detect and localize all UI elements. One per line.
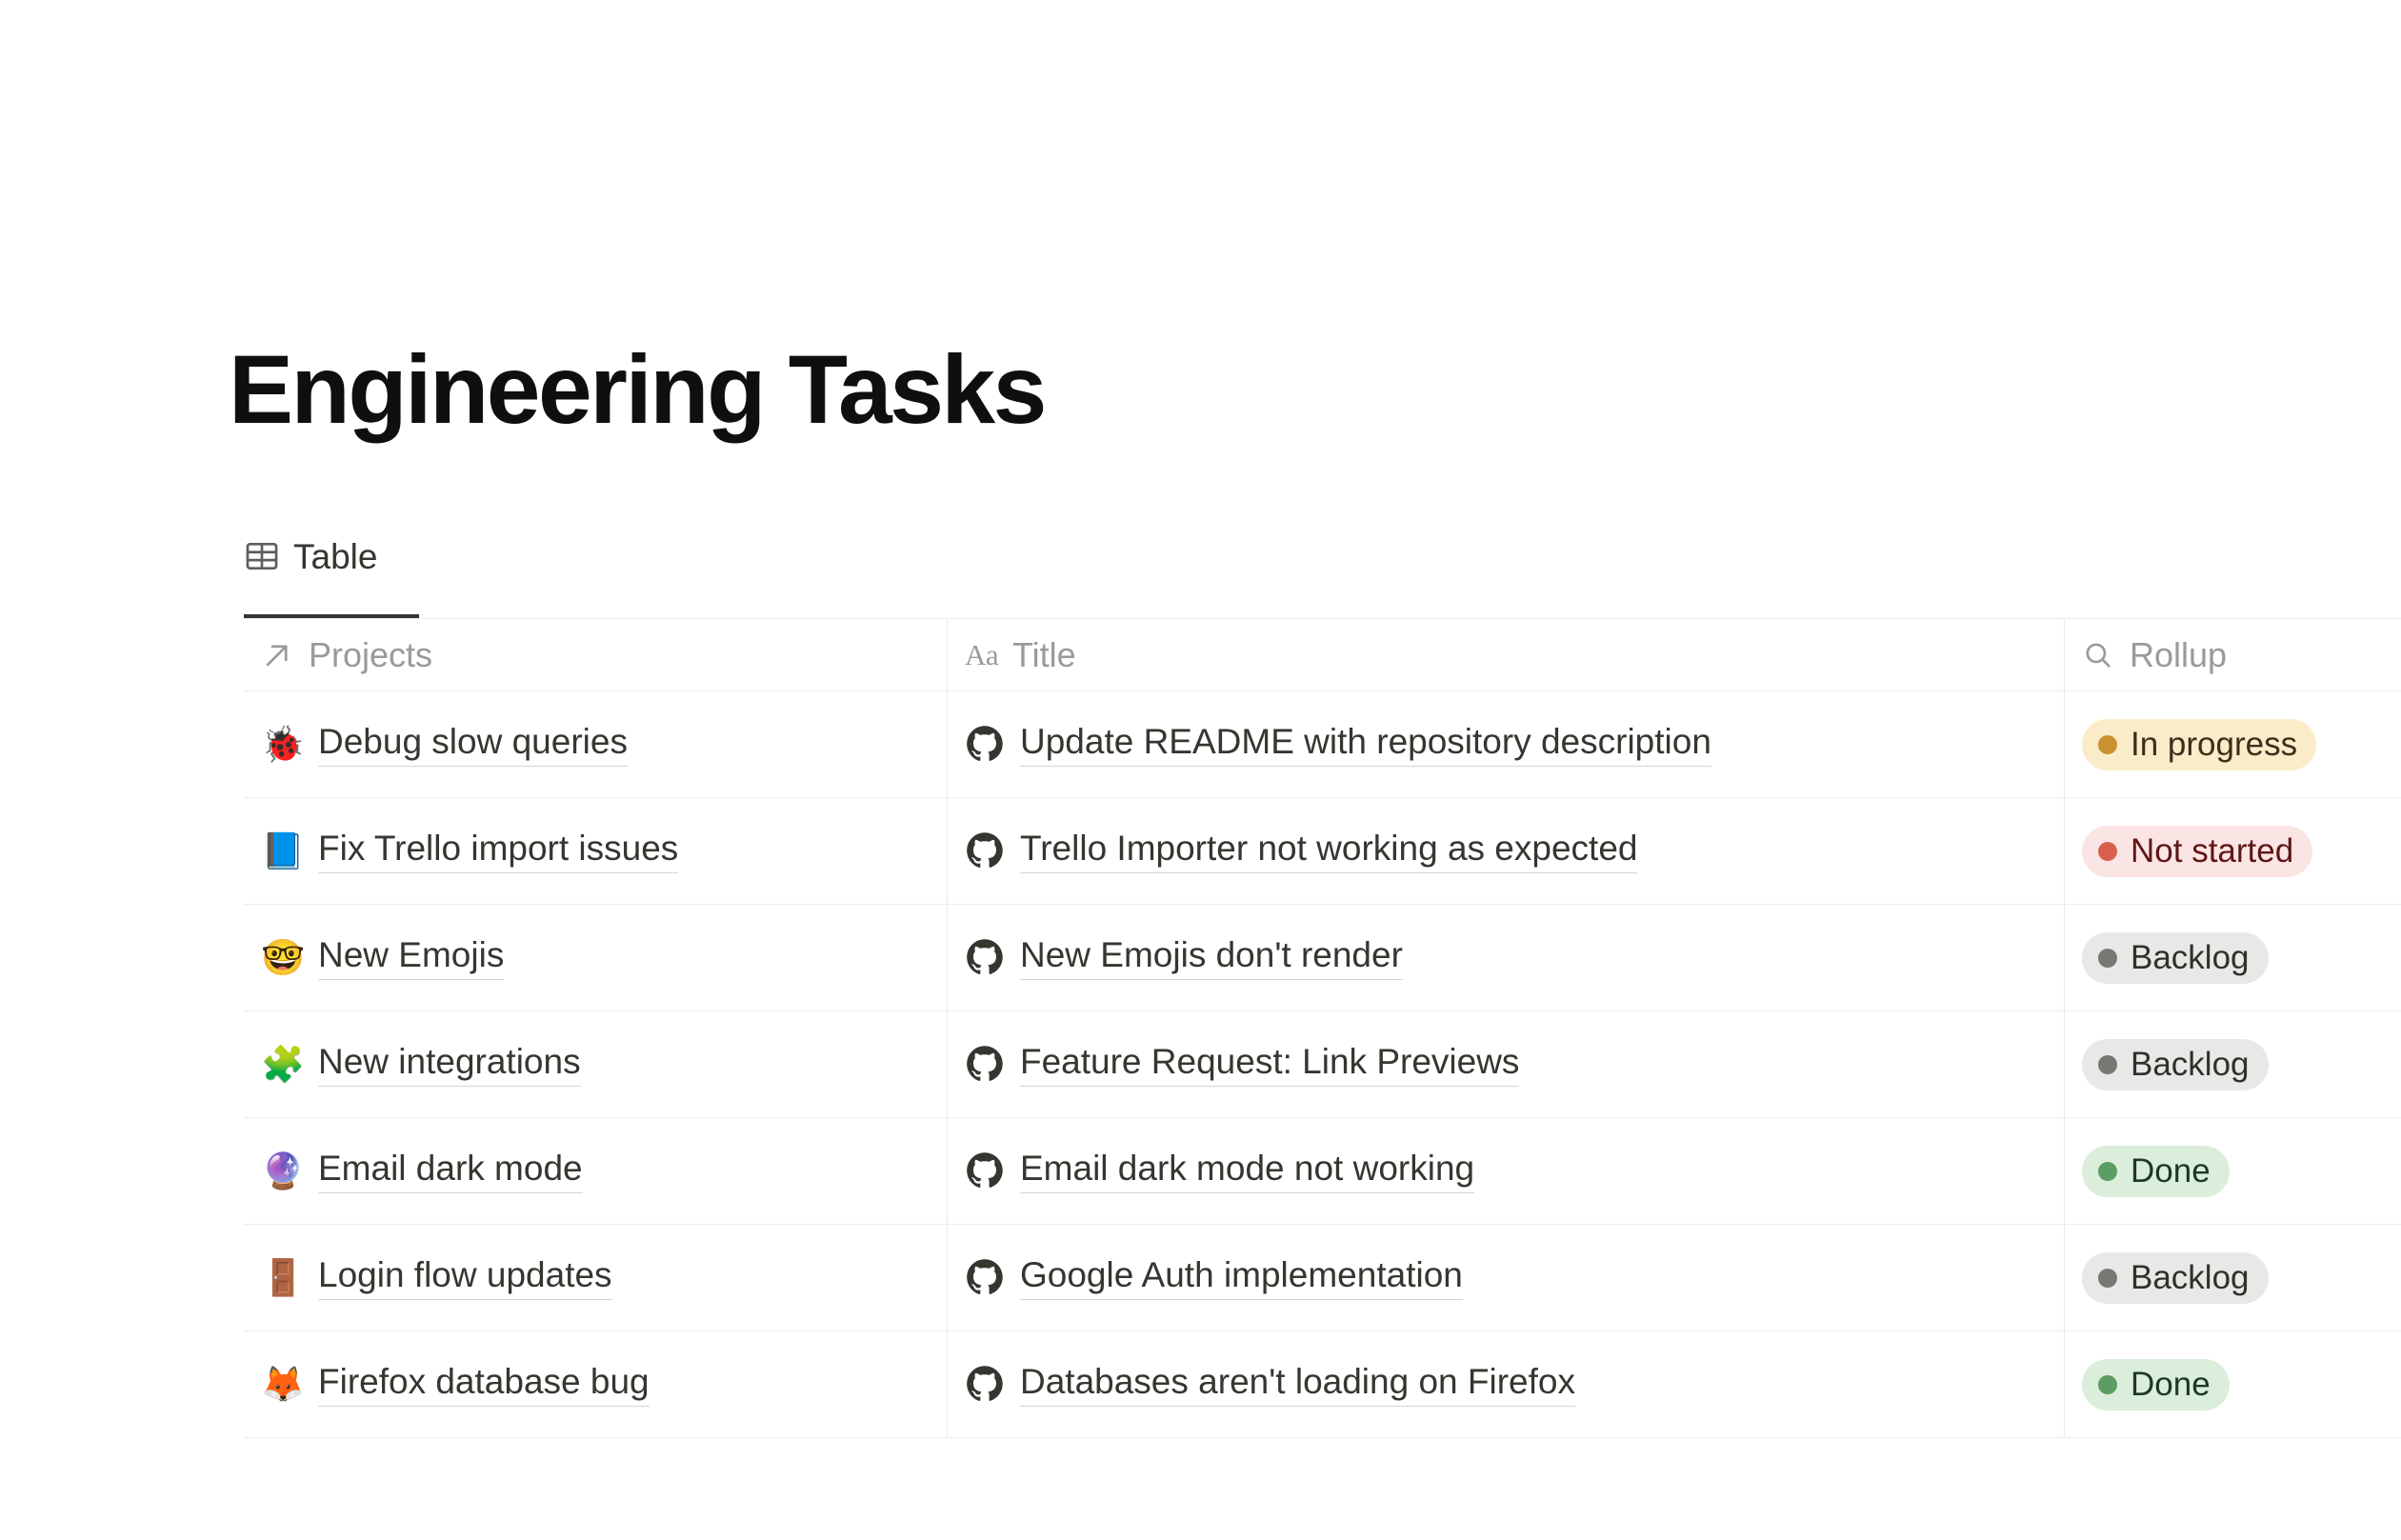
door-emoji: 🚪 bbox=[261, 1260, 303, 1295]
table-row[interactable]: 🚪Login flow updatesGoogle Auth implement… bbox=[244, 1225, 2401, 1331]
cell-rollup[interactable]: Backlog bbox=[2065, 1225, 2401, 1330]
cell-title[interactable]: Feature Request: Link Previews bbox=[948, 1011, 2065, 1117]
status-dot-icon bbox=[2098, 949, 2117, 968]
status-badge: Done bbox=[2082, 1359, 2230, 1410]
cell-rollup[interactable]: Done bbox=[2065, 1331, 2401, 1437]
issue-title-link[interactable]: Email dark mode not working bbox=[1020, 1149, 1474, 1193]
project-relation-link[interactable]: Debug slow queries bbox=[318, 722, 628, 767]
table-row[interactable]: 🦊Firefox database bugDatabases aren't lo… bbox=[244, 1331, 2401, 1438]
cell-title[interactable]: Trello Importer not working as expected bbox=[948, 798, 2065, 904]
project-relation-link[interactable]: Firefox database bug bbox=[318, 1362, 650, 1407]
github-icon bbox=[965, 937, 1005, 977]
github-icon bbox=[965, 1044, 1005, 1084]
status-badge-label: Backlog bbox=[2131, 1048, 2250, 1081]
github-icon bbox=[965, 1364, 1005, 1404]
cell-projects[interactable]: 🚪Login flow updates bbox=[244, 1225, 948, 1330]
table-body: 🐞Debug slow queriesUpdate README with re… bbox=[244, 691, 2401, 1438]
github-icon bbox=[965, 1150, 1005, 1190]
status-badge: Backlog bbox=[2082, 932, 2269, 984]
cell-rollup[interactable]: Not started bbox=[2065, 798, 2401, 904]
status-badge: Backlog bbox=[2082, 1252, 2269, 1304]
column-header-title[interactable]: Aa Title bbox=[948, 619, 2065, 690]
blue-book-emoji: 📘 bbox=[261, 833, 303, 869]
issue-title-link[interactable]: Google Auth implementation bbox=[1020, 1255, 1463, 1300]
issue-title-link[interactable]: Trello Importer not working as expected bbox=[1020, 829, 1637, 873]
cell-projects[interactable]: 📘Fix Trello import issues bbox=[244, 798, 948, 904]
status-badge-label: Done bbox=[2131, 1154, 2211, 1188]
table-row[interactable]: 🔮Email dark modeEmail dark mode not work… bbox=[244, 1118, 2401, 1225]
cell-title[interactable]: Databases aren't loading on Firefox bbox=[948, 1331, 2065, 1437]
status-dot-icon bbox=[2098, 1055, 2117, 1074]
status-badge-label: In progress bbox=[2131, 728, 2297, 761]
status-dot-icon bbox=[2098, 1269, 2117, 1288]
issue-title-link[interactable]: Feature Request: Link Previews bbox=[1020, 1042, 1519, 1087]
column-header-rollup-label: Rollup bbox=[2130, 638, 2227, 672]
status-dot-icon bbox=[2098, 1162, 2117, 1181]
puzzle-piece-emoji: 🧩 bbox=[261, 1047, 303, 1082]
view-tab-bar: Table bbox=[244, 526, 387, 600]
table-row[interactable]: 🧩New integrationsFeature Request: Link P… bbox=[244, 1011, 2401, 1118]
column-header-rollup[interactable]: Rollup bbox=[2065, 619, 2401, 690]
status-badge-label: Backlog bbox=[2131, 941, 2250, 974]
cell-projects[interactable]: 🦊Firefox database bug bbox=[244, 1331, 948, 1437]
lady-beetle-emoji: 🐞 bbox=[261, 727, 303, 762]
nerd-face-emoji: 🤓 bbox=[261, 940, 303, 975]
column-header-title-label: Title bbox=[1012, 638, 1076, 672]
relation-arrow-icon bbox=[261, 639, 293, 671]
table-header-row: Projects Aa Title Rollup bbox=[244, 619, 2401, 691]
magnifier-icon bbox=[2082, 639, 2114, 671]
tab-table[interactable]: Table bbox=[244, 526, 387, 587]
column-header-projects[interactable]: Projects bbox=[244, 619, 948, 690]
table-row[interactable]: 📘Fix Trello import issuesTrello Importer… bbox=[244, 798, 2401, 905]
status-badge-label: Done bbox=[2131, 1368, 2211, 1401]
github-icon bbox=[965, 1257, 1005, 1297]
project-relation-link[interactable]: New integrations bbox=[318, 1042, 581, 1087]
issue-title-link[interactable]: Update README with repository descriptio… bbox=[1020, 722, 1711, 767]
cell-projects[interactable]: 🐞Debug slow queries bbox=[244, 691, 948, 797]
cell-rollup[interactable]: In progress bbox=[2065, 691, 2401, 797]
cell-title[interactable]: Email dark mode not working bbox=[948, 1118, 2065, 1224]
column-header-projects-label: Projects bbox=[309, 638, 432, 672]
status-dot-icon bbox=[2098, 842, 2117, 861]
notion-page: Engineering Tasks Table bbox=[0, 0, 2401, 1540]
status-badge: Backlog bbox=[2082, 1039, 2269, 1090]
status-badge: Not started bbox=[2082, 826, 2312, 877]
cell-title[interactable]: New Emojis don't render bbox=[948, 905, 2065, 1010]
issue-title-link[interactable]: Databases aren't loading on Firefox bbox=[1020, 1362, 1575, 1407]
status-badge: Done bbox=[2082, 1146, 2230, 1197]
cell-rollup[interactable]: Backlog bbox=[2065, 1011, 2401, 1117]
cell-projects[interactable]: 🤓New Emojis bbox=[244, 905, 948, 1010]
github-icon bbox=[965, 830, 1005, 870]
page-title: Engineering Tasks bbox=[229, 336, 1045, 443]
status-dot-icon bbox=[2098, 735, 2117, 754]
status-badge-label: Backlog bbox=[2131, 1261, 2250, 1294]
project-relation-link[interactable]: New Emojis bbox=[318, 935, 504, 980]
database-table: Projects Aa Title Rollup bbox=[244, 618, 2401, 1438]
cell-rollup[interactable]: Backlog bbox=[2065, 905, 2401, 1010]
github-icon bbox=[965, 724, 1005, 764]
project-relation-link[interactable]: Email dark mode bbox=[318, 1149, 583, 1193]
fox-emoji: 🦊 bbox=[261, 1367, 303, 1402]
project-relation-link[interactable]: Fix Trello import issues bbox=[318, 829, 678, 873]
cell-projects[interactable]: 🔮Email dark mode bbox=[244, 1118, 948, 1224]
tab-table-label: Table bbox=[293, 539, 377, 574]
table-row[interactable]: 🤓New EmojisNew Emojis don't renderBacklo… bbox=[244, 905, 2401, 1011]
aa-text-icon: Aa bbox=[965, 639, 997, 671]
table-row[interactable]: 🐞Debug slow queriesUpdate README with re… bbox=[244, 691, 2401, 798]
status-dot-icon bbox=[2098, 1375, 2117, 1394]
project-relation-link[interactable]: Login flow updates bbox=[318, 1255, 612, 1300]
issue-title-link[interactable]: New Emojis don't render bbox=[1020, 935, 1403, 980]
status-badge: In progress bbox=[2082, 719, 2316, 770]
crystal-ball-emoji: 🔮 bbox=[261, 1153, 303, 1189]
cell-title[interactable]: Google Auth implementation bbox=[948, 1225, 2065, 1330]
status-badge-label: Not started bbox=[2131, 834, 2293, 868]
table-icon bbox=[244, 538, 280, 574]
cell-projects[interactable]: 🧩New integrations bbox=[244, 1011, 948, 1117]
cell-rollup[interactable]: Done bbox=[2065, 1118, 2401, 1224]
cell-title[interactable]: Update README with repository descriptio… bbox=[948, 691, 2065, 797]
